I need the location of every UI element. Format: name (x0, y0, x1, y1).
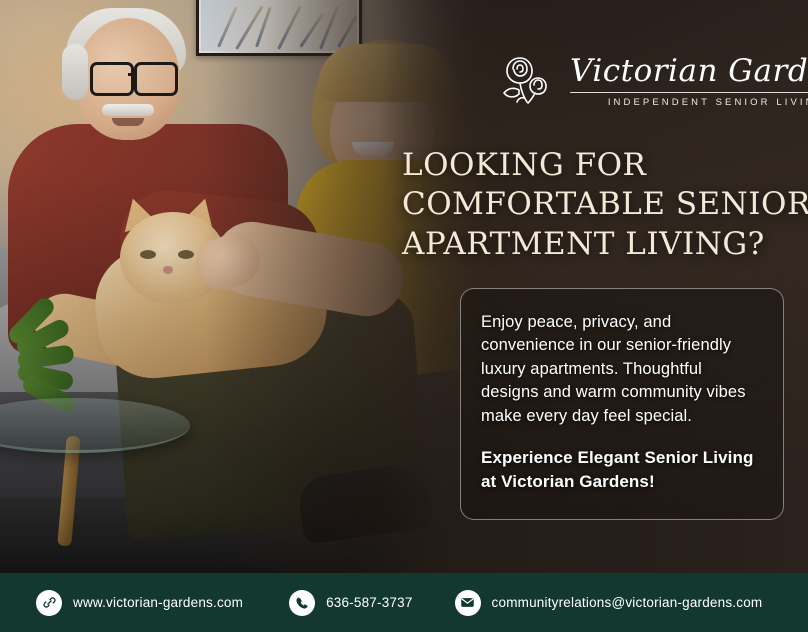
envelope-icon (455, 590, 481, 616)
brand-tagline: INDEPENDENT SENIOR LIVING (570, 97, 808, 108)
card-cta-text: Experience Elegant Senior Living at Vict… (481, 446, 763, 493)
phone-text: 636-587-3737 (326, 595, 412, 610)
advertisement-poster: Victorian Gardens INDEPENDENT SENIOR LIV… (0, 0, 808, 632)
brand-logo[interactable]: Victorian Gardens INDEPENDENT SENIOR LIV… (500, 52, 808, 112)
email-text: communityrelations@victorian-gardens.com (492, 595, 763, 610)
brand-name: Victorian Gardens (570, 56, 808, 87)
footer-phone[interactable]: 636-587-3737 (289, 590, 412, 616)
page-title: LOOKING FOR COMFORTABLE SENIOR APARTMENT… (402, 146, 794, 264)
headline-line-3: APARTMENT LIVING? (402, 225, 794, 264)
website-text: www.victorian-gardens.com (73, 595, 243, 610)
contact-footer: www.victorian-gardens.com 636-587-3737 c… (0, 573, 808, 632)
link-icon (36, 590, 62, 616)
description-card: Enjoy peace, privacy, and convenience in… (460, 288, 784, 520)
card-body-text: Enjoy peace, privacy, and convenience in… (481, 311, 763, 428)
logo-wordmark: Victorian Gardens INDEPENDENT SENIOR LIV… (570, 56, 808, 108)
headline-line-1: LOOKING FOR (402, 146, 794, 185)
headline-line-2: COMFORTABLE SENIOR (402, 185, 794, 224)
footer-email[interactable]: communityrelations@victorian-gardens.com (455, 590, 763, 616)
phone-icon (289, 590, 315, 616)
footer-website[interactable]: www.victorian-gardens.com (36, 590, 243, 616)
logo-divider (570, 92, 808, 93)
rose-icon (500, 52, 560, 112)
